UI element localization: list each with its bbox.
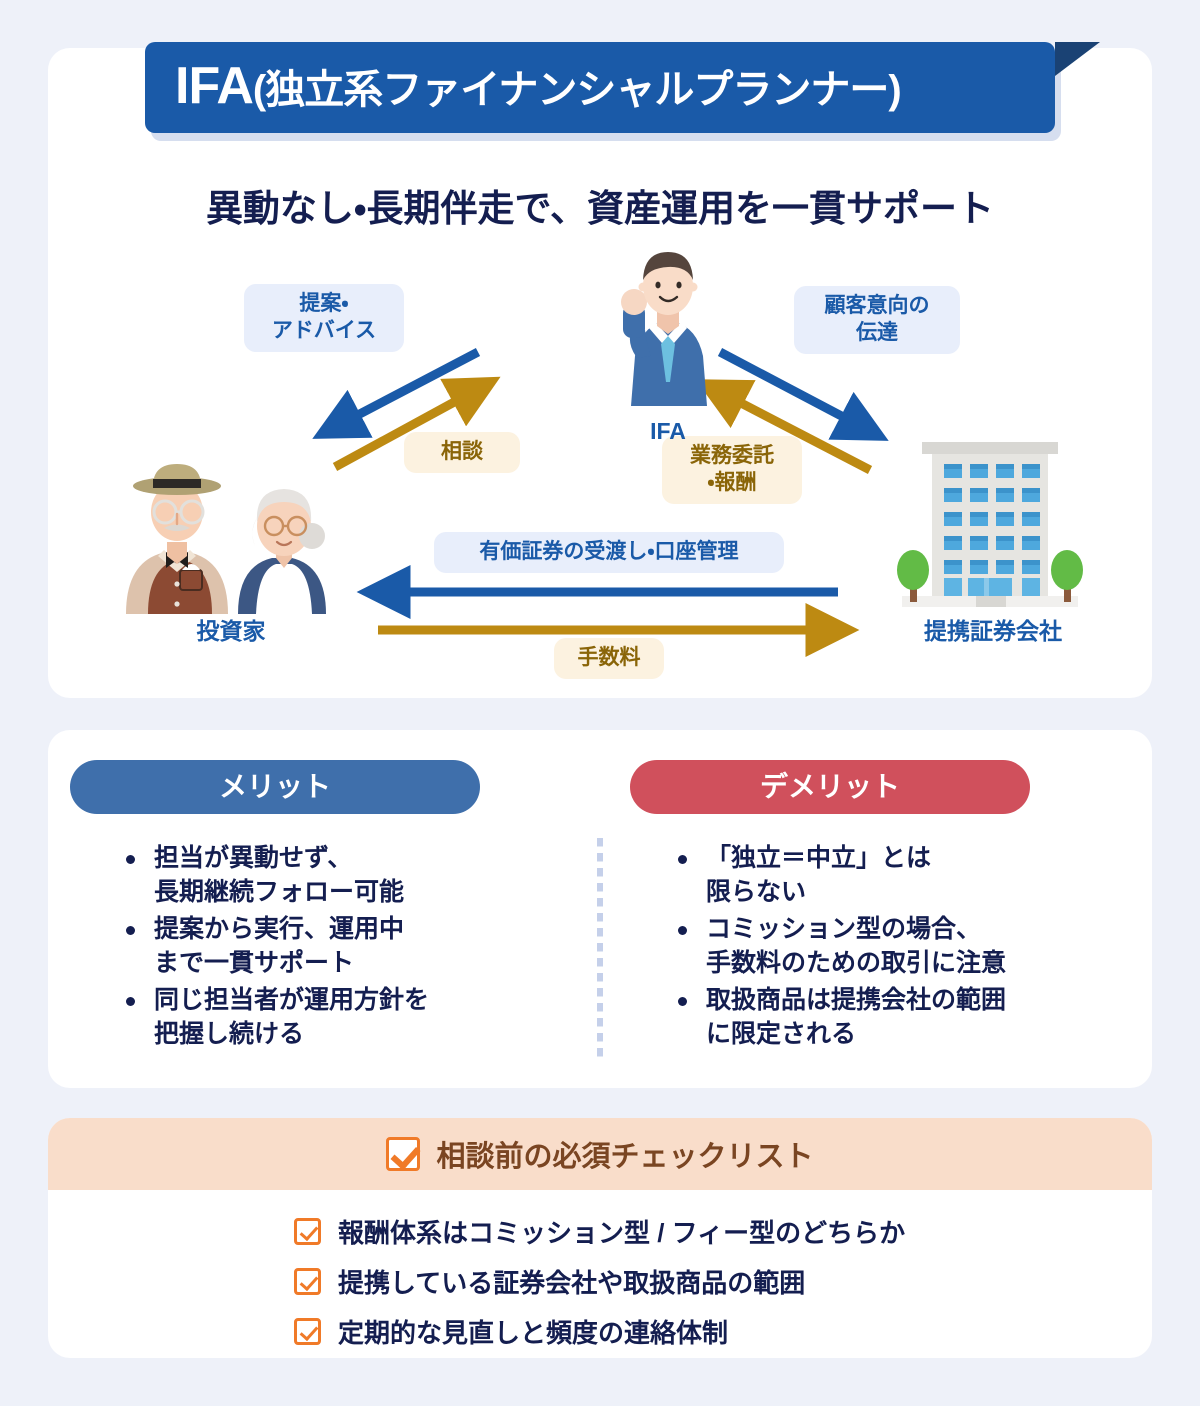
list-item: 「独立＝中立」とは 限らない — [672, 842, 1122, 909]
ifa-person-illustration — [593, 240, 743, 420]
flow-label-client-intent: 顧客意向の 伝達 — [794, 286, 960, 354]
node-label-investor: 投資家 — [126, 612, 336, 646]
checkbox-checked-icon — [386, 1137, 420, 1171]
arrow-proposal — [333, 352, 478, 428]
list-item: 提案から実行、運用中 まで一貫サポート — [120, 913, 590, 980]
checklist-item-label: 報酬体系はコミッション型 / フィー型のどちらか — [338, 1213, 905, 1250]
flow-label-custody: 有価証券の受渡し・口座管理 — [434, 532, 784, 573]
infographic-page: IFA(独立系ファイナンシャルプランナー) 異動なし・長期伴走で、資産運用を一貫… — [0, 0, 1200, 1406]
ribbon-fold-corner — [1055, 42, 1100, 76]
checklist-item[interactable]: 定期的な見直しと頻度の連絡体制 — [294, 1313, 905, 1350]
flow-label-outsourcing-fee: 業務委託 ・報酬 — [662, 436, 802, 504]
page-title-main: IFA — [175, 57, 253, 115]
checkbox-icon[interactable] — [294, 1318, 321, 1345]
checkbox-icon[interactable] — [294, 1218, 321, 1245]
merit-header: メリット — [70, 760, 480, 814]
list-item: 取扱商品は提携会社の範囲 に限定される — [672, 984, 1122, 1051]
demerit-list: 「独立＝中立」とは 限らない コミッション型の場合、 手数料のための取引に注意 … — [672, 842, 1122, 1055]
investor-couple-illustration — [120, 422, 340, 614]
demerit-header: デメリット — [630, 760, 1030, 814]
list-item: 担当が異動せず、 長期継続フォロー可能 — [120, 842, 590, 909]
node-label-securities: 提携証券会社 — [888, 612, 1098, 646]
checklist-item-label: 定期的な見直しと頻度の連絡体制 — [338, 1313, 728, 1350]
pros-cons-divider — [597, 838, 603, 1060]
checklist-item[interactable]: 提携している証券会社や取扱商品の範囲 — [294, 1263, 905, 1300]
flow-label-proposal: 提案・ アドバイス — [244, 284, 404, 352]
checklist-heading: 相談前の必須チェックリスト — [436, 1133, 813, 1175]
page-title: IFA(独立系ファイナンシャルプランナー) — [175, 58, 1025, 115]
flow-diagram: 提案・ アドバイス 相談 顧客意向の 伝達 業務委託 ・報酬 有価証券の受渡し・… — [48, 240, 1152, 680]
checklist-item[interactable]: 報酬体系はコミッション型 / フィー型のどちらか — [294, 1213, 905, 1250]
checklist-item-label: 提携している証券会社や取扱商品の範囲 — [338, 1263, 805, 1300]
header-ribbon: IFA(独立系ファイナンシャルプランナー) — [145, 42, 1055, 133]
checklist-card: 相談前の必須チェックリスト 報酬体系はコミッション型 / フィー型のどちらか 提… — [48, 1118, 1152, 1358]
merit-list: 担当が異動せず、 長期継続フォロー可能 提案から実行、運用中 まで一貫サポート … — [120, 842, 590, 1055]
checklist-items: 報酬体系はコミッション型 / フィー型のどちらか 提携している証券会社や取扱商品… — [294, 1213, 905, 1358]
page-subtitle: 異動なし・長期伴走で、資産運用を一貫サポート — [0, 178, 1200, 232]
checkbox-icon[interactable] — [294, 1268, 321, 1295]
securities-building-illustration — [880, 420, 1100, 612]
flow-label-commission: 手数料 — [554, 638, 664, 679]
ribbon-body: IFA(独立系ファイナンシャルプランナー) — [145, 42, 1055, 133]
page-title-sub: (独立系ファイナンシャルプランナー) — [253, 68, 901, 112]
list-item: 同じ担当者が運用方針を 把握し続ける — [120, 984, 590, 1051]
checklist-header: 相談前の必須チェックリスト — [48, 1118, 1152, 1190]
list-item: コミッション型の場合、 手数料のための取引に注意 — [672, 913, 1122, 980]
node-label-ifa: IFA — [618, 418, 718, 445]
flow-label-consultation: 相談 — [404, 432, 520, 473]
